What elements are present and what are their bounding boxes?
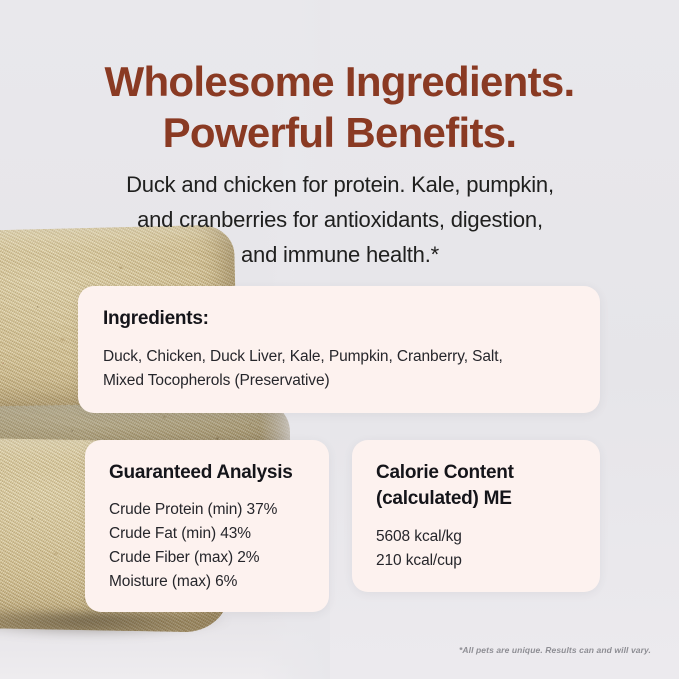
- page-subtitle: Duck and chicken for protein. Kale, pump…: [60, 167, 620, 272]
- guaranteed-analysis-title: Guaranteed Analysis: [109, 460, 293, 486]
- calorie-content-card: Calorie Content (calculated) ME 5608 kca…: [352, 440, 600, 592]
- calorie-row-per-cup: 210 kcal/cup: [376, 549, 581, 573]
- page-subtitle-line-1: Duck and chicken for protein. Kale, pump…: [60, 167, 620, 202]
- calorie-content-title-line-1: Calorie Content: [376, 460, 581, 486]
- product-info-panel: Wholesome Ingredients. Powerful Benefits…: [0, 0, 679, 679]
- analysis-row-crude-fiber: Crude Fiber (max) 2%: [109, 546, 319, 570]
- ingredients-line-2: Mixed Tocopherols (Preservative): [103, 369, 583, 393]
- footnote-disclaimer: *All pets are unique. Results can and wi…: [459, 644, 651, 656]
- page-title: Wholesome Ingredients. Powerful Benefits…: [0, 56, 679, 158]
- calorie-content-body: 5608 kcal/kg 210 kcal/cup: [376, 525, 581, 573]
- calorie-content-title: Calorie Content (calculated) ME: [376, 460, 581, 512]
- calorie-content-title-line-2: (calculated) ME: [376, 486, 581, 512]
- guaranteed-analysis-body: Crude Protein (min) 37% Crude Fat (min) …: [109, 498, 319, 594]
- analysis-row-crude-protein: Crude Protein (min) 37%: [109, 498, 319, 522]
- page-subtitle-line-2: and cranberries for antioxidants, digest…: [60, 202, 620, 237]
- calorie-row-per-kg: 5608 kcal/kg: [376, 525, 581, 549]
- analysis-row-moisture: Moisture (max) 6%: [109, 570, 319, 594]
- guaranteed-analysis-card: Guaranteed Analysis Crude Protein (min) …: [85, 440, 329, 612]
- ingredients-card: Ingredients: Duck, Chicken, Duck Liver, …: [78, 286, 600, 413]
- ingredients-line-1: Duck, Chicken, Duck Liver, Kale, Pumpkin…: [103, 345, 583, 369]
- analysis-row-crude-fat: Crude Fat (min) 43%: [109, 522, 319, 546]
- ingredients-card-title: Ingredients:: [103, 306, 209, 332]
- ingredients-card-body: Duck, Chicken, Duck Liver, Kale, Pumpkin…: [103, 345, 583, 393]
- page-title-line-2: Powerful Benefits.: [0, 107, 679, 158]
- page-title-line-1: Wholesome Ingredients.: [105, 58, 575, 105]
- page-subtitle-line-3: and immune health.*: [60, 237, 620, 272]
